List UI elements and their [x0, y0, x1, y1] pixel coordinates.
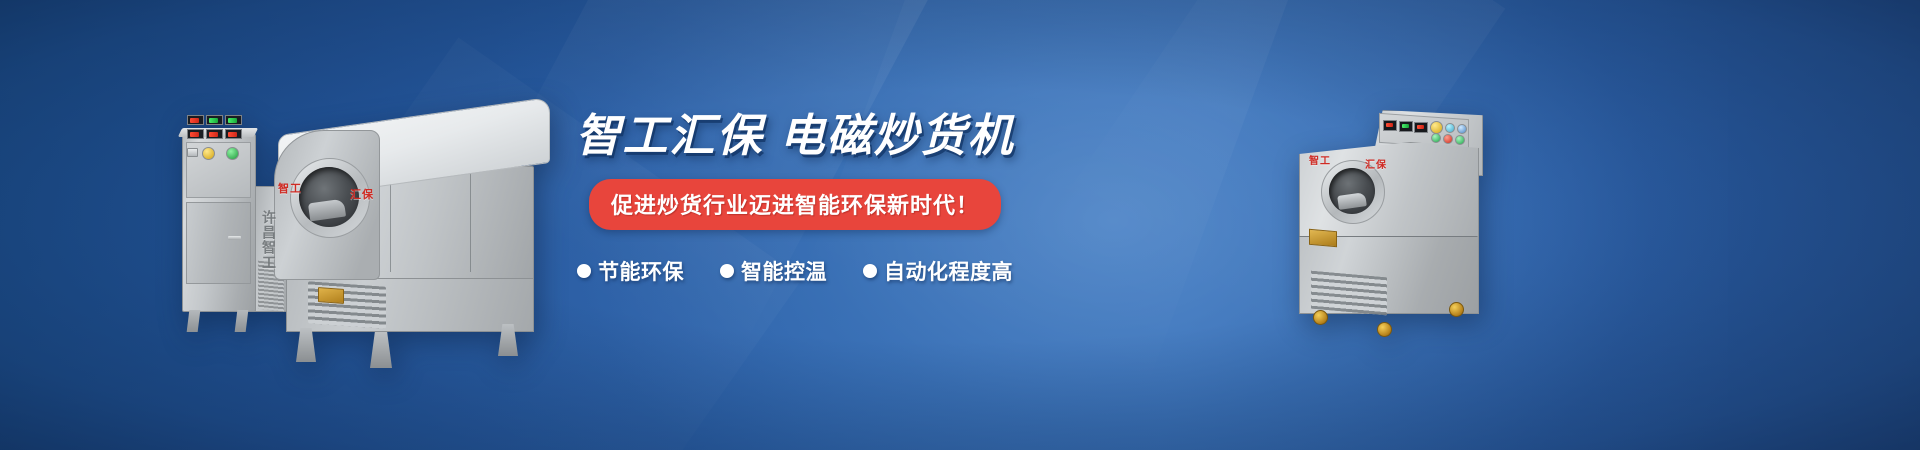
machine-brand-logo-left: 智工 — [278, 180, 302, 196]
feature-item-1: 节能环保 — [577, 256, 684, 286]
bullet-dot-icon — [863, 264, 877, 278]
machine-vent-louvers — [1311, 271, 1387, 316]
feature-label: 智能控温 — [741, 256, 827, 286]
panel-display — [206, 115, 223, 125]
product-image-large-roaster: 智工 汇保 许昌智工 — [182, 110, 552, 365]
machine-drum-opening — [1329, 168, 1375, 214]
machine-leg — [296, 328, 316, 362]
machine-caster-wheel — [1377, 322, 1392, 337]
machine-brand-logo-right: 汇保 — [1365, 156, 1387, 171]
panel-display — [187, 129, 204, 139]
machine-door-seam — [470, 168, 471, 272]
feature-label: 节能环保 — [598, 256, 684, 286]
machine-caster-wheel — [1449, 302, 1464, 317]
promo-banner: 智工 汇保 许昌智工 — [0, 0, 1920, 450]
panel-display — [206, 129, 223, 139]
panel-emergency-stop-knob — [202, 147, 215, 160]
product-image-vertical-roaster: 智工 汇保 — [1283, 98, 1508, 358]
banner-feature-list: 节能环保 智能控温 自动化程度高 — [560, 256, 1030, 286]
machine-caster-wheel — [1313, 310, 1328, 325]
bullet-dot-icon — [720, 264, 734, 278]
machine-cabinet-foot — [235, 310, 249, 332]
panel-display — [187, 115, 204, 125]
machine-cabinet-foot — [187, 310, 201, 332]
machine-brand-logo-right: 汇保 — [350, 186, 374, 202]
banner-headline: 智工汇保电磁炒货机 — [560, 112, 1030, 161]
panel-button — [1457, 124, 1467, 134]
panel-display — [1399, 121, 1413, 132]
panel-button — [1455, 135, 1465, 145]
panel-start-button — [226, 147, 239, 160]
panel-display — [225, 129, 242, 139]
machine-gold-nameplate — [318, 287, 344, 304]
machine-cabinet-door — [186, 202, 251, 284]
panel-display — [1414, 122, 1428, 133]
headline-brand: 智工汇保 — [575, 110, 763, 161]
banner-copy-block: 智工汇保电磁炒货机 促进炒货行业迈进智能环保新时代！ 节能环保 智能控温 自动化… — [560, 112, 1030, 286]
machine-cabinet-handle — [228, 236, 241, 240]
panel-button — [1431, 133, 1441, 143]
headline-product: 电磁炒货机 — [780, 110, 1015, 161]
bullet-dot-icon — [577, 264, 591, 278]
feature-label: 自动化程度高 — [884, 256, 1013, 286]
panel-display — [1383, 120, 1397, 131]
panel-button — [1445, 123, 1455, 133]
machine-gold-nameplate — [1309, 229, 1337, 247]
banner-tagline-row: 促进炒货行业迈进智能环保新时代！ — [560, 179, 1030, 230]
panel-switch — [187, 148, 198, 157]
feature-item-3: 自动化程度高 — [863, 256, 1013, 286]
machine-leg — [370, 332, 392, 368]
feature-item-2: 智能控温 — [720, 256, 827, 286]
machine-brand-logo-left: 智工 — [1309, 152, 1331, 167]
banner-tagline-badge: 促进炒货行业迈进智能环保新时代！ — [589, 179, 1001, 230]
machine-cabinet-vertical-text: 许昌智工 — [258, 210, 276, 270]
panel-display — [225, 115, 242, 125]
panel-button — [1443, 134, 1453, 144]
